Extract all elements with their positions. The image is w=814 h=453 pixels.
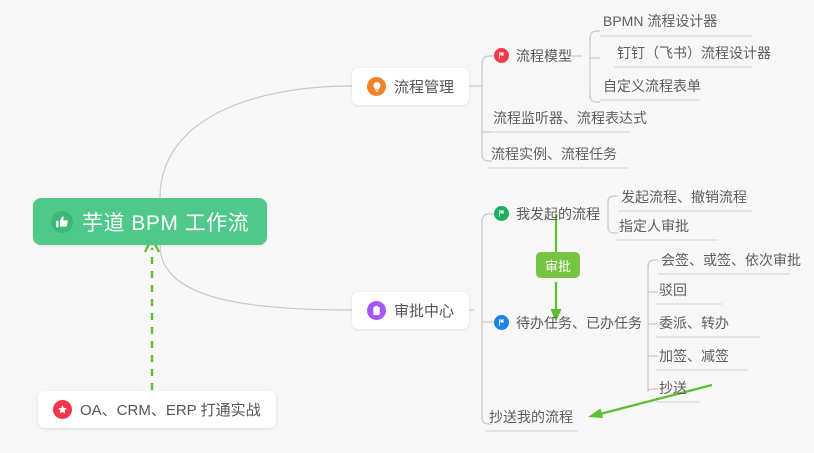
leaf-assignee-approval[interactable]: 指定人审批: [614, 211, 696, 241]
branch-node-process-management[interactable]: 流程管理: [352, 68, 469, 105]
leaf-delegate-transfer[interactable]: 委派、转办: [654, 308, 736, 338]
branch-node-approval-center[interactable]: 审批中心: [352, 292, 469, 329]
mindmap-canvas: 芋道 BPM 工作流 流程管理 流程模型 BPMN 流程设计器 钉钉（飞书）流程…: [0, 0, 814, 453]
leaf-label: BPMN 流程设计器: [603, 11, 717, 31]
flag-blue-icon: [494, 315, 509, 330]
leaf-countersign-orsign-sequential[interactable]: 会签、或签、依次审批: [656, 245, 808, 275]
leaf-label: 委派、转办: [659, 313, 729, 333]
branch-label: 流程管理: [394, 76, 454, 97]
approval-tag: 审批: [536, 252, 580, 278]
node-label: 待办任务、已办任务: [516, 313, 642, 333]
node-process-model[interactable]: 流程模型: [492, 40, 576, 71]
branch-label: 审批中心: [394, 300, 454, 321]
leaf-label: 流程监听器、流程表达式: [493, 108, 647, 128]
node-my-initiated-process[interactable]: 我发起的流程: [492, 198, 604, 229]
thumbs-up-icon: [51, 211, 73, 233]
leaf-bpmn-designer[interactable]: BPMN 流程设计器: [598, 6, 724, 36]
leaf-process-instance-task[interactable]: 流程实例、流程任务: [486, 139, 624, 169]
root-node[interactable]: 芋道 BPM 工作流: [33, 198, 267, 245]
node-todo-done-tasks[interactable]: 待办任务、已办任务: [492, 307, 646, 338]
leaf-label: 发起流程、撤销流程: [621, 187, 747, 207]
leaf-label: 指定人审批: [619, 216, 689, 236]
leaf-cc-to-me-process[interactable]: 抄送我的流程: [484, 402, 580, 432]
leaf-label: 驳回: [659, 280, 687, 300]
leaf-add-remove-sign[interactable]: 加签、减签: [654, 341, 736, 371]
clipboard-icon: [367, 301, 386, 320]
leaf-custom-process-form[interactable]: 自定义流程表单: [598, 71, 708, 101]
node-label: 流程模型: [516, 46, 572, 66]
lightbulb-icon: [367, 77, 386, 96]
leaf-label: 自定义流程表单: [603, 76, 701, 96]
flag-red-icon: [494, 48, 509, 63]
leaf-label: 流程实例、流程任务: [491, 144, 617, 164]
leaf-label: 抄送: [659, 378, 687, 398]
star-icon: [53, 400, 72, 419]
leaf-label: 加签、减签: [659, 346, 729, 366]
leaf-label: 抄送我的流程: [489, 407, 573, 427]
node-label: 我发起的流程: [516, 204, 600, 224]
leaf-label: 钉钉（飞书）流程设计器: [617, 43, 771, 63]
integration-dashed-arrow: [145, 238, 159, 390]
leaf-label: 会签、或签、依次审批: [661, 250, 801, 270]
leaf-start-cancel-process[interactable]: 发起流程、撤销流程: [616, 182, 754, 212]
leaf-process-listener-expression[interactable]: 流程监听器、流程表达式: [488, 103, 654, 133]
leaf-cc[interactable]: 抄送: [654, 373, 694, 403]
integration-label: OA、CRM、ERP 打通实战: [80, 399, 261, 420]
flag-green-icon: [494, 206, 509, 221]
integration-node[interactable]: OA、CRM、ERP 打通实战: [38, 391, 276, 428]
root-label: 芋道 BPM 工作流: [82, 207, 249, 237]
leaf-dingtalk-feishu-designer[interactable]: 钉钉（飞书）流程设计器: [612, 38, 778, 68]
leaf-reject[interactable]: 驳回: [654, 275, 694, 305]
approval-tag-label: 审批: [545, 256, 571, 275]
